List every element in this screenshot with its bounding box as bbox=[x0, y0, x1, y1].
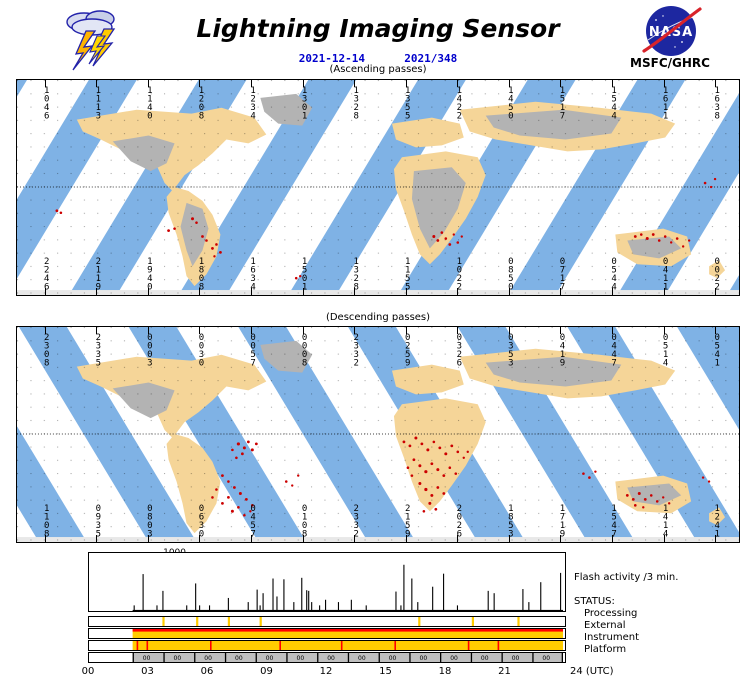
orbit-tick-mark bbox=[406, 327, 407, 334]
orbit-tick-mark bbox=[45, 80, 46, 87]
status-row-platform: 0000000000000000000000000000 bbox=[88, 652, 566, 663]
lis-daily-summary-page: Lightning Imaging Sensor 2021-12-14 2021… bbox=[0, 0, 756, 680]
status-row-external bbox=[88, 628, 566, 639]
orbit-time-label: 1634 bbox=[248, 257, 257, 291]
orbit-tick-mark bbox=[509, 80, 510, 87]
orbit-time-label: 1719 bbox=[557, 504, 566, 538]
orbit-tick-mark bbox=[199, 327, 200, 334]
orbit-time-label: 2026 bbox=[454, 504, 463, 538]
orbit-time-label: 2119 bbox=[93, 257, 102, 291]
x-tick-label: 15 bbox=[379, 666, 392, 677]
orbit-tick-mark bbox=[406, 535, 407, 542]
orbit-time-label: 1022 bbox=[454, 257, 463, 291]
orbit-tick-mark bbox=[406, 288, 407, 295]
orbit-tick-mark bbox=[96, 80, 97, 87]
orbit-tick-mark bbox=[148, 288, 149, 295]
instrument-status-bar bbox=[89, 641, 565, 650]
orbit-tick-mark bbox=[148, 327, 149, 334]
flash-activity-series bbox=[89, 553, 565, 611]
orbit-tick-mark bbox=[45, 535, 46, 542]
orbit-time-label: 1808 bbox=[196, 257, 205, 291]
svg-text:00: 00 bbox=[450, 655, 458, 662]
x-tick-label: 06 bbox=[201, 666, 214, 677]
legend-external: External bbox=[584, 620, 626, 631]
orbit-time-label: 1547 bbox=[609, 504, 618, 538]
orbit-time-label: 1155 bbox=[403, 257, 412, 291]
ascending-panel-caption: (Ascending passes) bbox=[0, 64, 756, 75]
orbit-time-label: 0057 bbox=[248, 333, 257, 367]
orbit-tick-mark bbox=[251, 288, 252, 295]
orbit-time-label: 1355 bbox=[403, 86, 412, 120]
orbit-time-label: 0022 bbox=[712, 257, 721, 291]
orbit-time-label: 1414 bbox=[661, 504, 670, 538]
svg-text:00: 00 bbox=[542, 655, 550, 662]
orbit-time-label: 0544 bbox=[609, 257, 618, 291]
orbit-time-label: 1853 bbox=[506, 504, 515, 538]
orbit-time-label: 0108 bbox=[300, 504, 309, 538]
descending-map-graphic bbox=[17, 327, 739, 542]
svg-text:00: 00 bbox=[420, 655, 428, 662]
orbit-tick-mark bbox=[560, 535, 561, 542]
svg-text:00: 00 bbox=[174, 655, 182, 662]
orbit-time-label: 1208 bbox=[196, 86, 205, 120]
x-tick-label: 12 bbox=[320, 666, 333, 677]
orbit-tick-mark bbox=[251, 80, 252, 87]
orbit-time-label: 1140 bbox=[145, 86, 154, 120]
orbit-tick-mark bbox=[96, 288, 97, 295]
svg-text:00: 00 bbox=[512, 655, 520, 662]
svg-text:00: 00 bbox=[481, 655, 489, 662]
svg-text:00: 00 bbox=[327, 655, 335, 662]
orbit-time-label: 0541 bbox=[712, 333, 721, 367]
svg-text:00: 00 bbox=[143, 655, 151, 662]
orbit-tick-mark bbox=[251, 535, 252, 542]
orbit-time-label: 0935 bbox=[93, 504, 102, 538]
svg-text:00: 00 bbox=[358, 655, 366, 662]
orbit-tick-mark bbox=[199, 535, 200, 542]
flash-activity-chart: 1000 100 10 1 00000000000000000000000000… bbox=[0, 548, 756, 680]
orbit-time-label: 2246 bbox=[42, 257, 51, 291]
orbit-tick-mark bbox=[457, 288, 458, 295]
orbit-time-label: 1517 bbox=[557, 86, 566, 120]
orbit-time-label: 1046 bbox=[42, 86, 51, 120]
status-row-processing bbox=[88, 616, 566, 627]
orbit-time-label: 2308 bbox=[42, 333, 51, 367]
x-tick-label: 09 bbox=[260, 666, 273, 677]
orbit-tick-mark bbox=[664, 80, 665, 87]
orbit-tick-mark bbox=[303, 327, 304, 334]
orbit-tick-mark bbox=[612, 80, 613, 87]
svg-text:00: 00 bbox=[297, 655, 305, 662]
orbit-tick-mark bbox=[509, 327, 510, 334]
orbit-tick-mark bbox=[664, 327, 665, 334]
orbit-tick-mark bbox=[715, 327, 716, 334]
orbit-time-label: 1940 bbox=[145, 257, 154, 291]
orbit-tick-mark bbox=[45, 288, 46, 295]
orbit-tick-mark bbox=[664, 288, 665, 295]
orbit-tick-mark bbox=[715, 80, 716, 87]
orbit-time-label: 1638 bbox=[712, 86, 721, 120]
orbit-tick-mark bbox=[612, 535, 613, 542]
orbit-time-label: 0447 bbox=[609, 333, 618, 367]
external-status-bar bbox=[89, 629, 565, 638]
orbit-time-label: 0457 bbox=[248, 504, 257, 538]
orbit-tick-mark bbox=[612, 327, 613, 334]
orbit-time-label: 1108 bbox=[42, 504, 51, 538]
orbit-time-label: 1328 bbox=[351, 257, 360, 291]
orbit-tick-mark bbox=[457, 80, 458, 87]
descending-map-panel: 2308233500030030005700082332025903260353… bbox=[16, 326, 740, 543]
orbit-time-label: 0717 bbox=[557, 257, 566, 291]
platform-status-bar: 0000000000000000000000000000 bbox=[89, 653, 565, 662]
orbit-time-label: 2332 bbox=[351, 504, 360, 538]
orbit-time-label: 2332 bbox=[351, 333, 360, 367]
orbit-tick-mark bbox=[509, 535, 510, 542]
orbit-time-label: 1611 bbox=[661, 86, 670, 120]
orbit-tick-mark bbox=[96, 327, 97, 334]
orbit-tick-mark bbox=[354, 80, 355, 87]
legend-flash-activity: Flash activity /3 min. bbox=[574, 572, 678, 583]
orbit-tick-mark bbox=[406, 80, 407, 87]
orbit-time-label: 0419 bbox=[557, 333, 566, 367]
orbit-time-label: 1328 bbox=[351, 86, 360, 120]
flash-activity-plot bbox=[88, 552, 566, 612]
legend-processing: Processing bbox=[584, 608, 637, 619]
orbit-time-label: 0353 bbox=[506, 333, 515, 367]
x-tick-label: 03 bbox=[141, 666, 154, 677]
orbit-tick-mark bbox=[457, 535, 458, 542]
legend-platform: Platform bbox=[584, 644, 626, 655]
orbit-tick-mark bbox=[457, 327, 458, 334]
svg-text:00: 00 bbox=[266, 655, 274, 662]
legend-instrument: Instrument bbox=[584, 632, 639, 643]
orbit-tick-mark bbox=[664, 535, 665, 542]
orbit-tick-mark bbox=[560, 327, 561, 334]
orbit-tick-mark bbox=[303, 288, 304, 295]
x-axis-utc-label: 24 (UTC) bbox=[570, 666, 614, 677]
orbit-time-label: 0259 bbox=[403, 333, 412, 367]
processing-status-bar bbox=[89, 617, 565, 626]
orbit-time-label: 0326 bbox=[454, 333, 463, 367]
orbit-tick-mark bbox=[509, 288, 510, 295]
legend-status-header: STATUS: bbox=[574, 596, 615, 607]
x-tick-label: 18 bbox=[439, 666, 452, 677]
svg-text:00: 00 bbox=[389, 655, 397, 662]
orbit-time-label: 1450 bbox=[506, 86, 515, 120]
orbit-tick-mark bbox=[199, 288, 200, 295]
orbit-time-label: 0514 bbox=[661, 333, 670, 367]
orbit-tick-mark bbox=[148, 80, 149, 87]
orbit-time-label: 0030 bbox=[196, 333, 205, 367]
orbit-tick-mark bbox=[612, 288, 613, 295]
orbit-tick-mark bbox=[560, 80, 561, 87]
svg-text:00: 00 bbox=[235, 655, 243, 662]
ascending-map-panel: 1046111311401208123413011328135514221450… bbox=[16, 79, 740, 296]
orbit-time-label: 0630 bbox=[196, 504, 205, 538]
orbit-tick-mark bbox=[199, 80, 200, 87]
orbit-tick-mark bbox=[354, 535, 355, 542]
orbit-tick-mark bbox=[354, 288, 355, 295]
ascending-map-graphic bbox=[17, 80, 739, 295]
orbit-time-label: 1234 bbox=[248, 86, 257, 120]
orbit-tick-mark bbox=[354, 327, 355, 334]
orbit-time-label: 0850 bbox=[506, 257, 515, 291]
orbit-time-label: 2159 bbox=[403, 504, 412, 538]
svg-text:00: 00 bbox=[204, 655, 212, 662]
descending-panel-caption: (Descending passes) bbox=[0, 312, 756, 323]
orbit-time-label: 1422 bbox=[454, 86, 463, 120]
x-tick-label: 21 bbox=[498, 666, 511, 677]
orbit-tick-mark bbox=[715, 288, 716, 295]
orbit-tick-mark bbox=[303, 535, 304, 542]
orbit-time-label: 1113 bbox=[93, 86, 102, 120]
x-tick-label: 00 bbox=[82, 666, 95, 677]
orbit-tick-mark bbox=[715, 535, 716, 542]
orbit-tick-mark bbox=[303, 80, 304, 87]
orbit-time-label: 0008 bbox=[300, 333, 309, 367]
orbit-time-label: 2335 bbox=[93, 333, 102, 367]
orbit-tick-mark bbox=[45, 327, 46, 334]
orbit-time-label: 1501 bbox=[300, 257, 309, 291]
status-row-instrument bbox=[88, 640, 566, 651]
orbit-time-label: 1544 bbox=[609, 86, 618, 120]
orbit-tick-mark bbox=[251, 327, 252, 334]
orbit-time-label: 0003 bbox=[145, 333, 154, 367]
orbit-time-label: 1301 bbox=[300, 86, 309, 120]
orbit-time-label: 0411 bbox=[661, 257, 670, 291]
orbit-tick-mark bbox=[96, 535, 97, 542]
orbit-time-label: 0803 bbox=[145, 504, 154, 538]
orbit-tick-mark bbox=[560, 288, 561, 295]
orbit-time-label: 1241 bbox=[712, 504, 721, 538]
orbit-tick-mark bbox=[148, 535, 149, 542]
nasa-meatball-logo: NASA bbox=[630, 4, 712, 58]
